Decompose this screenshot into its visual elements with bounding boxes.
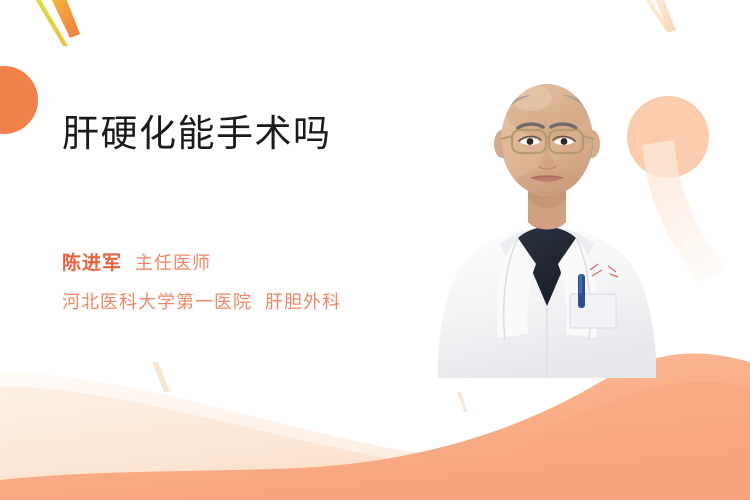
- doctor-title: 主任医师: [135, 249, 211, 275]
- doctor-name: 陈进军: [62, 248, 122, 275]
- title-block: 肝硬化能手术吗: [62, 110, 482, 157]
- slash-thick-orange-icon: [46, 0, 80, 38]
- top-right-slash-group: [640, 0, 676, 32]
- slash-thin-yellow-icon: [31, 0, 68, 46]
- wave-coral-lobe: [470, 382, 750, 500]
- slash-cream-thin-icon: [640, 0, 672, 32]
- slash-faint-left-icon: [152, 362, 170, 392]
- top-left-slash-group: [31, 0, 80, 46]
- credentials-row-hospital: 河北医科大学第一医院 肝胆外科: [62, 288, 341, 314]
- slash-faint-right-icon: [457, 392, 468, 412]
- doctor-hospital: 河北医科大学第一医院: [62, 288, 252, 314]
- wave-cream-layer: [0, 376, 750, 500]
- slash-cream-thick-icon: [651, 0, 676, 32]
- credentials-row-name: 陈进军 主任医师: [62, 248, 341, 275]
- doctor-portrait-illustration: [432, 58, 662, 378]
- doctor-department: 肝胆外科: [265, 288, 341, 314]
- wave-light-layer: [0, 372, 750, 500]
- doctor-video-card: 肝硬化能手术吗 陈进军 主任医师 河北医科大学第一医院 肝胆外科: [0, 0, 750, 500]
- doctor-credentials: 陈进军 主任医师 河北医科大学第一医院 肝胆外科: [62, 248, 341, 314]
- orange-circle-decoration: [0, 66, 38, 134]
- doctor-portrait: [432, 58, 662, 378]
- page-title: 肝硬化能手术吗: [62, 110, 482, 157]
